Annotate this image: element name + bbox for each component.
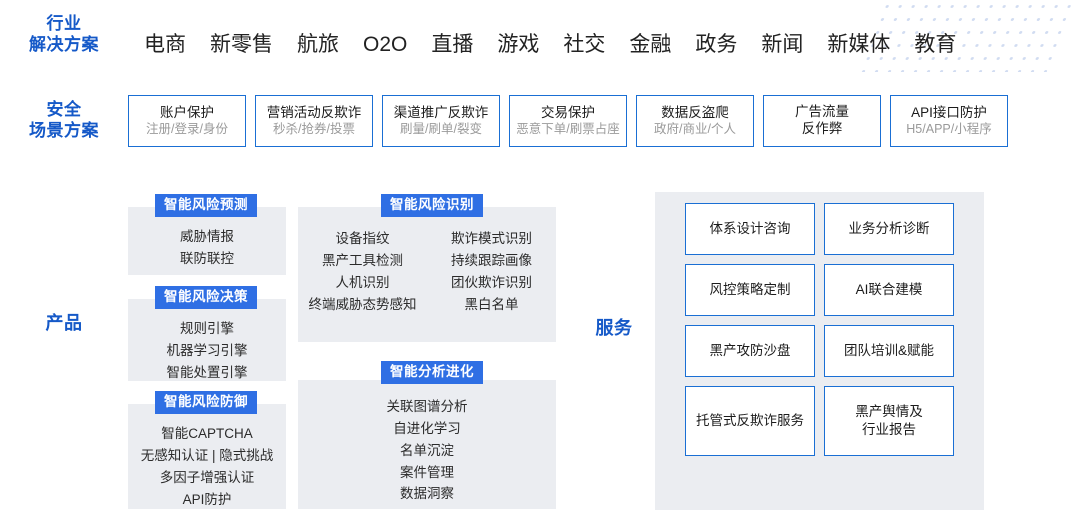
scenario-subtitle: 刷量/刷单/裂变: [400, 122, 482, 138]
product-item[interactable]: 关联图谱分析: [298, 396, 556, 418]
rail-label-industry: 行业 解决方案: [8, 14, 120, 55]
product-items-risk-defense: 智能CAPTCHA 无感知认证 | 隐式挑战 多因子增强认证 API防护: [124, 423, 290, 510]
service-card-7[interactable]: 黑产舆情及 行业报告: [824, 386, 954, 456]
industry-item-9[interactable]: 新闻: [749, 34, 815, 55]
service-list: 体系设计咨询 业务分析诊断 风控策略定制 AI联合建模 黑产攻防沙盘 团队培训&…: [685, 203, 954, 499]
scenario-title: API接口防护: [911, 105, 987, 122]
product-items-risk-prediction: 威胁情报 联防联控: [128, 226, 286, 270]
product-item[interactable]: 黑白名单: [427, 294, 556, 316]
rail-label-product: 产品: [8, 313, 120, 335]
product-items-risk-identification: 设备指纹 黑产工具检测 人机识别 终端威胁态势感知 欺诈模式识别 持续跟踪画像 …: [298, 228, 556, 315]
product-item[interactable]: 案件管理: [298, 462, 556, 484]
product-badge-risk-defense[interactable]: 智能风险防御: [155, 391, 257, 414]
rail-label-service: 服务: [578, 318, 650, 340]
scenario-card-4[interactable]: 数据反盗爬 政府/商业/个人: [636, 95, 754, 147]
scenario-card-0[interactable]: 账户保护 注册/登录/身份: [128, 95, 246, 147]
product-item[interactable]: API防护: [124, 489, 290, 511]
industry-item-8[interactable]: 政务: [683, 34, 749, 55]
scenario-card-1[interactable]: 营销活动反欺诈 秒杀/抢券/投票: [255, 95, 373, 147]
industry-item-4[interactable]: 直播: [419, 34, 485, 55]
scenario-subtitle: 恶意下单/刷票占座: [516, 122, 619, 138]
service-card-0[interactable]: 体系设计咨询: [685, 203, 815, 255]
industry-item-11[interactable]: 教育: [902, 34, 968, 55]
product-item[interactable]: 多因子增强认证: [124, 467, 290, 489]
product-item[interactable]: 名单沉淀: [298, 440, 556, 462]
product-item[interactable]: 终端威胁态势感知: [298, 294, 427, 316]
scenario-subtitle: H5/APP/小程序: [906, 122, 991, 138]
scenario-subtitle: 政府/商业/个人: [654, 122, 736, 138]
scenario-subtitle: 秒杀/抢券/投票: [273, 122, 355, 138]
product-badge-analysis-evolution[interactable]: 智能分析进化: [381, 361, 483, 384]
industry-list: 电商 新零售 航旅 O2O 直播 游戏 社交 金融 政务 新闻 新媒体 教育: [132, 26, 952, 62]
product-item[interactable]: 机器学习引擎: [128, 340, 286, 362]
scenario-title: 广告流量: [795, 104, 849, 121]
product-item[interactable]: 智能CAPTCHA: [124, 423, 290, 445]
scenario-card-5[interactable]: 广告流量 反作弊: [763, 95, 881, 147]
service-card-6[interactable]: 托管式反欺诈服务: [685, 386, 815, 456]
industry-item-5[interactable]: 游戏: [485, 34, 551, 55]
service-card-3[interactable]: AI联合建模: [824, 264, 954, 316]
scenario-card-6[interactable]: API接口防护 H5/APP/小程序: [890, 95, 1008, 147]
product-items-column-left: 设备指纹 黑产工具检测 人机识别 终端威胁态势感知: [298, 228, 427, 315]
product-item[interactable]: 无感知认证 | 隐式挑战: [124, 445, 290, 467]
product-items-column-right: 欺诈模式识别 持续跟踪画像 团伙欺诈识别 黑白名单: [427, 228, 556, 315]
scenario-title: 交易保护: [541, 105, 595, 122]
service-card-4[interactable]: 黑产攻防沙盘: [685, 325, 815, 377]
product-item[interactable]: 设备指纹: [298, 228, 427, 250]
scenario-title: 账户保护: [160, 105, 214, 122]
product-items-risk-decision: 规则引擎 机器学习引擎 智能处置引擎: [128, 318, 286, 384]
rail-label-scenario: 安全 场景方案: [8, 100, 120, 141]
product-item[interactable]: 智能处置引擎: [128, 362, 286, 384]
scenario-card-3[interactable]: 交易保护 恶意下单/刷票占座: [509, 95, 627, 147]
solution-architecture-diagram: 行业 解决方案 安全 场景方案 产品 服务 电商 新零售 航旅 O2O 直播 游…: [0, 0, 1073, 520]
product-item[interactable]: 威胁情报: [128, 226, 286, 248]
scenario-title: 营销活动反欺诈: [267, 105, 362, 122]
product-item[interactable]: 联防联控: [128, 248, 286, 270]
industry-item-0[interactable]: 电商: [132, 34, 198, 55]
scenario-title: 渠道推广反欺诈: [394, 105, 489, 122]
scenario-subtitle: 反作弊: [802, 121, 843, 138]
product-badge-risk-identification[interactable]: 智能风险识别: [381, 194, 483, 217]
product-badge-risk-decision[interactable]: 智能风险决策: [155, 286, 257, 309]
scenario-title: 数据反盗爬: [661, 105, 729, 122]
scenario-list: 账户保护 注册/登录/身份 营销活动反欺诈 秒杀/抢券/投票 渠道推广反欺诈 刷…: [128, 95, 1008, 147]
scenario-subtitle: 注册/登录/身份: [146, 122, 228, 138]
product-item[interactable]: 黑产工具检测: [298, 250, 427, 272]
product-badge-risk-prediction[interactable]: 智能风险预测: [155, 194, 257, 217]
product-item[interactable]: 自进化学习: [298, 418, 556, 440]
service-card-2[interactable]: 风控策略定制: [685, 264, 815, 316]
product-item[interactable]: 数据洞察: [298, 483, 556, 505]
product-item[interactable]: 规则引擎: [128, 318, 286, 340]
industry-item-7[interactable]: 金融: [617, 34, 683, 55]
industry-item-3[interactable]: O2O: [351, 34, 419, 55]
industry-item-2[interactable]: 航旅: [285, 34, 351, 55]
industry-item-6[interactable]: 社交: [551, 34, 617, 55]
product-item[interactable]: 人机识别: [298, 272, 427, 294]
scenario-card-2[interactable]: 渠道推广反欺诈 刷量/刷单/裂变: [382, 95, 500, 147]
product-item[interactable]: 团伙欺诈识别: [427, 272, 556, 294]
industry-item-1[interactable]: 新零售: [198, 34, 285, 55]
service-card-1[interactable]: 业务分析诊断: [824, 203, 954, 255]
service-card-5[interactable]: 团队培训&赋能: [824, 325, 954, 377]
industry-item-10[interactable]: 新媒体: [815, 34, 902, 55]
product-items-analysis-evolution: 关联图谱分析 自进化学习 名单沉淀 案件管理 数据洞察: [298, 396, 556, 505]
product-item[interactable]: 持续跟踪画像: [427, 250, 556, 272]
product-item[interactable]: 欺诈模式识别: [427, 228, 556, 250]
